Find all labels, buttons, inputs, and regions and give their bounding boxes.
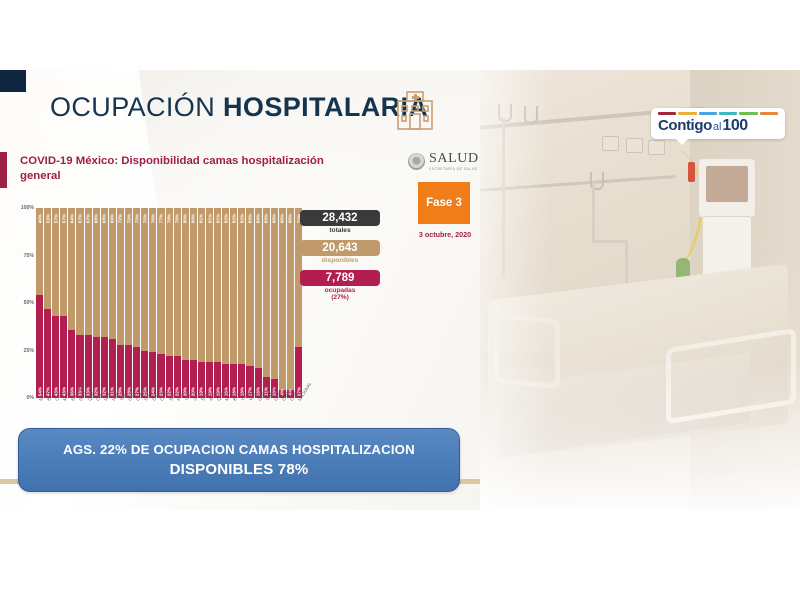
chart-bar: 82%18%: [222, 208, 229, 398]
bar-value-disponibilidad: 90%: [272, 214, 277, 223]
chart-bar: 80%20%: [182, 208, 189, 398]
bar-value-disponibilidad: 78%: [167, 214, 172, 223]
bar-segment-disponibilidad: 81%: [214, 208, 221, 362]
bar-segment-ocupacion: 32%: [101, 337, 108, 398]
wall-outlet-1: [602, 136, 619, 151]
stat-ocupadas-value: 7,789: [300, 270, 380, 286]
bar-value-disponibilidad: 83%: [247, 214, 252, 223]
ventilator-monitor: [698, 158, 756, 218]
bar-segment-ocupacion: 28%: [117, 345, 124, 398]
bar-segment-disponibilidad: 67%: [85, 208, 92, 335]
chart-bar: 81%19%: [206, 208, 213, 398]
bar-value-disponibilidad: 68%: [94, 214, 99, 223]
bar-segment-disponibilidad: 67%: [76, 208, 83, 335]
bar-segment-disponibilidad: 78%: [166, 208, 173, 356]
logo-text-al: al: [713, 122, 722, 133]
bar-segment-ocupacion: 28%: [125, 345, 132, 398]
bar-segment-disponibilidad: 72%: [125, 208, 132, 345]
stat-total-value: 28,432: [300, 210, 380, 226]
logo-color-bars: [658, 112, 778, 115]
logo-text-contigo: Contigo: [658, 118, 712, 133]
bar-segment-ocupacion: 36%: [68, 330, 75, 398]
logo-speech-tail: [675, 138, 689, 145]
bar-segment-ocupacion: 47%: [44, 309, 51, 398]
bar-segment-disponibilidad: 80%: [182, 208, 189, 360]
bar-value-disponibilidad: 72%: [126, 214, 131, 223]
stat-ocupadas-caption-text: ocupadas: [300, 287, 380, 294]
bar-segment-ocupacion: 24%: [149, 352, 156, 398]
slide-date: 3 octubre, 2020: [412, 230, 478, 239]
bar-segment-disponibilidad: 81%: [198, 208, 205, 362]
fase-badge: Fase 3: [418, 182, 470, 224]
bar-segment-disponibilidad: 46%: [36, 208, 43, 295]
y-tick-2: 50%: [24, 300, 34, 306]
chart-plot-area: 46%54%53%47%57%43%57%43%64%36%67%33%67%3…: [36, 208, 302, 398]
photo-left-fade: [480, 70, 550, 510]
stat-boxes: 28,432 totales 20,643 disponibles 7,789 …: [300, 210, 380, 307]
chart-bar: 84%16%: [255, 208, 262, 398]
slide-subtitle: COVID-19 México: Disponibilidad camas ho…: [20, 154, 350, 185]
chart-bar: 78%22%: [166, 208, 173, 398]
bar-value-disponibilidad: 57%: [61, 214, 66, 223]
chart-bar: 82%18%: [238, 208, 245, 398]
bar-segment-ocupacion: 54%: [36, 295, 43, 398]
bar-value-disponibilidad: 82%: [239, 214, 244, 223]
bar-segment-disponibilidad: 69%: [109, 208, 116, 339]
logo-text-100: 100: [722, 118, 747, 134]
salud-name: SALUD: [429, 152, 479, 166]
chart-bar: 81%19%: [198, 208, 205, 398]
hospital-room-photo: Contigo al 100: [480, 70, 800, 510]
bar-value-disponibilidad: 81%: [199, 214, 204, 223]
bar-segment-disponibilidad: 57%: [52, 208, 59, 316]
chart-bar: 77%23%: [157, 208, 164, 398]
iv-pole-elbow: [592, 240, 628, 243]
title-word-ocupacion: OCUPACIÓN: [50, 92, 215, 122]
chart-bar: 69%31%: [109, 208, 116, 398]
bar-segment-disponibilidad: 82%: [222, 208, 229, 364]
iv-pole-2: [592, 182, 595, 242]
chart-bar: 57%43%: [52, 208, 59, 398]
logo-bar-4: [739, 112, 757, 115]
bar-segment-ocupacion: 32%: [93, 337, 100, 398]
chart-bar: 96%4%: [287, 208, 294, 398]
bar-segment-disponibilidad: 57%: [60, 208, 67, 316]
contigo-al-100-logo: Contigo al 100: [651, 108, 785, 139]
chart-bar: 53%47%: [44, 208, 51, 398]
chart-bar: 78%22%: [174, 208, 181, 398]
bar-segment-disponibilidad: 96%: [287, 208, 294, 390]
bar-value-disponibilidad: 69%: [110, 214, 115, 223]
bar-value-disponibilidad: 46%: [37, 214, 42, 223]
chart-bar: 46%54%: [36, 208, 43, 398]
bar-segment-disponibilidad: 80%: [190, 208, 197, 360]
stat-total-caption: totales: [300, 227, 380, 234]
chart-bar: 89%11%: [263, 208, 270, 398]
chart-bar: 81%19%: [214, 208, 221, 398]
bar-value-disponibilidad: 75%: [142, 214, 147, 223]
chart-bar: 57%43%: [60, 208, 67, 398]
stat-ocupadas-pct: (27%): [300, 294, 380, 301]
bar-value-disponibilidad: 82%: [231, 214, 236, 223]
chart-bar: 83%17%: [246, 208, 253, 398]
mexico-seal-icon: [408, 153, 425, 170]
stat-disponibles-value: 20,643: [300, 240, 380, 256]
bar-segment-disponibilidad: 90%: [271, 208, 278, 379]
logo-bar-3: [719, 112, 737, 115]
bar-value-disponibilidad: 57%: [53, 214, 58, 223]
bar-value-disponibilidad: 68%: [102, 214, 107, 223]
screenshot-stage: OCUPACIÓN HOSPITALARIA COVID-19 México: …: [0, 0, 800, 600]
bar-segment-disponibilidad: 84%: [255, 208, 262, 368]
y-axis-labels: 0%25%50%75%100%: [12, 208, 34, 398]
bar-value-disponibilidad: 81%: [207, 214, 212, 223]
bar-segment-disponibilidad: 82%: [238, 208, 245, 364]
bar-segment-disponibilidad: 96%: [279, 208, 286, 390]
bar-segment-ocupacion: 31%: [109, 339, 116, 398]
chart-bar: 72%28%: [117, 208, 124, 398]
bar-value-disponibilidad: 53%: [45, 214, 50, 223]
monitor-screen: [706, 166, 748, 202]
letterbox-top: [0, 0, 800, 70]
bar-segment-disponibilidad: 76%: [149, 208, 156, 352]
salud-logo: SALUD SECRETARÍA DE SALUD: [408, 152, 479, 171]
bar-value-disponibilidad: 67%: [78, 214, 83, 223]
logo-bar-0: [658, 112, 676, 115]
chart-bar: 73%27%: [133, 208, 140, 398]
y-tick-0: 0%: [27, 395, 35, 401]
slide-corner-accent: [0, 70, 26, 92]
chart-bar: 67%33%: [76, 208, 83, 398]
slide-accent-bar: [0, 152, 7, 188]
bar-segment-disponibilidad: 68%: [101, 208, 108, 337]
bar-value-disponibilidad: 78%: [175, 214, 180, 223]
chart-bar: 67%33%: [85, 208, 92, 398]
banner-line-1: AGS. 22% DE OCUPACION CAMAS HOSPITALIZAC…: [63, 442, 415, 457]
letterbox-bottom: [0, 510, 800, 600]
logo-bar-5: [760, 112, 778, 115]
bar-value-disponibilidad: 76%: [150, 214, 155, 223]
bar-value-disponibilidad: 96%: [280, 214, 285, 223]
chart-bar: 68%32%: [93, 208, 100, 398]
bar-segment-ocupacion: 43%: [60, 316, 67, 398]
bar-value-disponibilidad: 89%: [264, 214, 269, 223]
bar-value-disponibilidad: 81%: [215, 214, 220, 223]
red-clip: [688, 162, 695, 182]
y-tick-3: 75%: [24, 253, 34, 259]
stat-disponibles-caption: disponibles: [300, 257, 380, 264]
bar-segment-disponibilidad: 64%: [68, 208, 75, 330]
banner-line-2: DISPONIBLES 78%: [170, 461, 309, 478]
chart-bar: 80%20%: [190, 208, 197, 398]
bar-value-disponibilidad: 82%: [223, 214, 228, 223]
bar-segment-disponibilidad: 73%: [133, 208, 140, 347]
bar-segment-ocupacion: 33%: [85, 335, 92, 398]
bar-value-disponibilidad: 67%: [86, 214, 91, 223]
chart-bar: 82%18%: [230, 208, 237, 398]
chart-bar: 64%36%: [68, 208, 75, 398]
chart-bar: 96%4%: [279, 208, 286, 398]
bar-segment-disponibilidad: 77%: [157, 208, 164, 354]
bar-segment-disponibilidad: 89%: [263, 208, 270, 377]
salud-subname: SECRETARÍA DE SALUD: [429, 168, 479, 171]
bar-value-disponibilidad: 73%: [134, 214, 139, 223]
bar-segment-disponibilidad: 53%: [44, 208, 51, 309]
hospital-building-icon: [392, 90, 438, 132]
bar-segment-disponibilidad: 75%: [141, 208, 148, 351]
chart-bar: 75%25%: [141, 208, 148, 398]
bar-value-disponibilidad: 72%: [118, 214, 123, 223]
bar-segment-disponibilidad: 82%: [230, 208, 237, 364]
stat-ocupadas-caption: ocupadas (27%): [300, 287, 380, 301]
bar-segment-disponibilidad: 81%: [206, 208, 213, 362]
bar-segment-disponibilidad: 68%: [93, 208, 100, 337]
x-axis-labels: NLBCCMXMOREDOMEXDGOQROCOLNAYHGOTABGTOCOA…: [36, 399, 302, 425]
y-tick-4: 100%: [21, 205, 34, 211]
bar-value-disponibilidad: 84%: [256, 214, 261, 223]
bar-value-disponibilidad: 64%: [69, 214, 74, 223]
bar-segment-ocupacion: 43%: [52, 316, 59, 398]
page-title: OCUPACIÓN HOSPITALARIA: [50, 92, 428, 123]
bar-segment-disponibilidad: 83%: [246, 208, 253, 366]
chart-bar: 68%32%: [101, 208, 108, 398]
logo-bar-1: [678, 112, 696, 115]
chart-bar: 76%24%: [149, 208, 156, 398]
chart-bar: 72%28%: [125, 208, 132, 398]
chart-bar: 90%10%: [271, 208, 278, 398]
bar-value-disponibilidad: 96%: [288, 214, 293, 223]
bar-value-disponibilidad: 80%: [183, 214, 188, 223]
bar-value-disponibilidad: 77%: [158, 214, 163, 223]
stacked-bar-chart: 0%25%50%75%100% 46%54%53%47%57%43%57%43%…: [12, 208, 302, 426]
logo-wordmark: Contigo al 100: [658, 118, 778, 134]
bar-segment-disponibilidad: 72%: [117, 208, 124, 345]
y-tick-1: 25%: [24, 348, 34, 354]
bar-value-disponibilidad: 80%: [191, 214, 196, 223]
logo-bar-2: [699, 112, 717, 115]
bar-segment-disponibilidad: 78%: [174, 208, 181, 356]
lower-third-banner: AGS. 22% DE OCUPACION CAMAS HOSPITALIZAC…: [18, 428, 460, 492]
wall-outlet-2: [626, 138, 643, 153]
